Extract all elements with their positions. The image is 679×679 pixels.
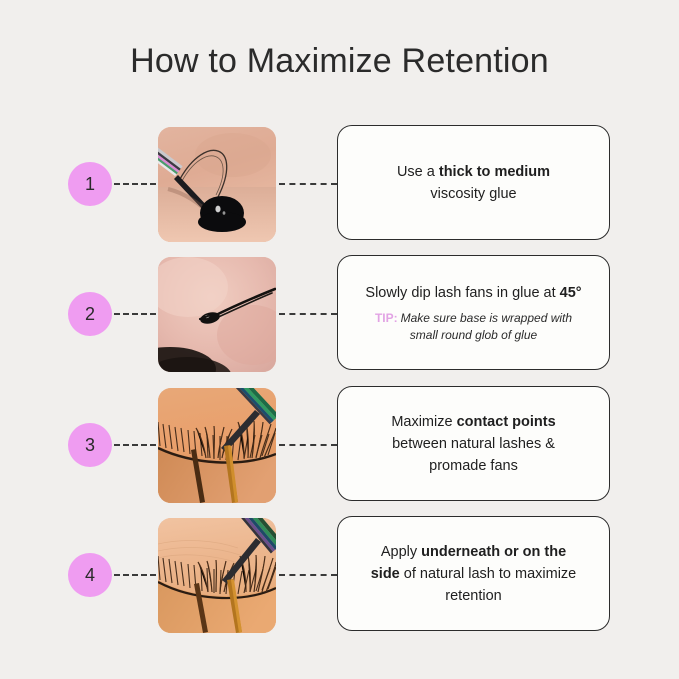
- step-1-text-plain: Use a: [397, 164, 439, 180]
- step-number-badge-4: 4: [68, 553, 112, 597]
- step-4-text-plain-2: of natural lash to maximize: [400, 566, 577, 582]
- step-number-badge-1: 1: [68, 162, 112, 206]
- connector-badge-to-photo-1: [114, 183, 156, 185]
- step-photo-2: [158, 257, 276, 372]
- connector-photo-to-card-4: [279, 574, 337, 576]
- step-card-2: Slowly dip lash fans in glue at 45° TIP:…: [337, 255, 610, 370]
- step-card-1-line-1: Use a thick to medium: [397, 161, 550, 183]
- step-4-text-bold-2: side: [371, 566, 400, 582]
- step-card-4: Apply underneath or on the side of natur…: [337, 516, 610, 631]
- step-3-text-bold: contact points: [457, 414, 556, 430]
- step-2-text-plain: Slowly dip lash fans in glue at: [365, 285, 559, 301]
- step-card-3-line-3: promade fans: [429, 455, 518, 477]
- step-card-4-line-1: Apply underneath or on the: [381, 541, 566, 563]
- step-photo-4: [158, 518, 276, 633]
- step-row-2: 2: [0, 255, 679, 373]
- infographic-page: How to Maximize Retention 1: [0, 0, 679, 679]
- step-card-1: Use a thick to medium viscosity glue: [337, 125, 610, 240]
- connector-photo-to-card-1: [279, 183, 337, 185]
- step-2-tip: TIP:Make sure base is wrapped with small…: [375, 310, 572, 344]
- connector-photo-to-card-3: [279, 444, 337, 446]
- step-4-text-bold-1: underneath or on the: [421, 544, 566, 560]
- step-1-text-bold: thick to medium: [439, 164, 550, 180]
- step-3-text-plain: Maximize: [391, 414, 456, 430]
- step-card-4-line-2: side of natural lash to maximize: [371, 563, 577, 585]
- page-title: How to Maximize Retention: [0, 42, 679, 81]
- tip-line-2: small round glob of glue: [410, 328, 537, 342]
- step-row-1: 1: [0, 125, 679, 243]
- photo-4-illustration: [158, 518, 276, 633]
- connector-badge-to-photo-4: [114, 574, 156, 576]
- connector-badge-to-photo-2: [114, 313, 156, 315]
- photo-2-illustration: [158, 257, 276, 372]
- step-number-badge-3: 3: [68, 423, 112, 467]
- step-number-label-2: 2: [85, 304, 95, 325]
- connector-photo-to-card-2: [279, 313, 337, 315]
- step-4-text-plain-1: Apply: [381, 544, 421, 560]
- step-number-badge-2: 2: [68, 292, 112, 336]
- step-card-1-line-2: viscosity glue: [430, 183, 516, 205]
- step-card-4-line-3: retention: [445, 585, 501, 607]
- step-photo-3: [158, 388, 276, 503]
- step-card-3-line-2: between natural lashes &: [392, 433, 555, 455]
- photo-1-illustration: [158, 127, 276, 242]
- connector-badge-to-photo-3: [114, 444, 156, 446]
- step-photo-1: [158, 127, 276, 242]
- step-row-3: 3: [0, 386, 679, 504]
- step-number-label-3: 3: [85, 435, 95, 456]
- step-card-3-line-1: Maximize contact points: [391, 411, 555, 433]
- step-card-3: Maximize contact points between natural …: [337, 386, 610, 501]
- photo-3-illustration: [158, 388, 276, 503]
- tip-line-1: Make sure base is wrapped with: [401, 311, 572, 325]
- step-card-2-line-1: Slowly dip lash fans in glue at 45°: [365, 282, 581, 304]
- step-2-text-bold: 45°: [560, 285, 582, 301]
- step-number-label-4: 4: [85, 565, 95, 586]
- tip-label: TIP:: [375, 311, 398, 325]
- step-row-4: 4: [0, 516, 679, 634]
- step-number-label-1: 1: [85, 174, 95, 195]
